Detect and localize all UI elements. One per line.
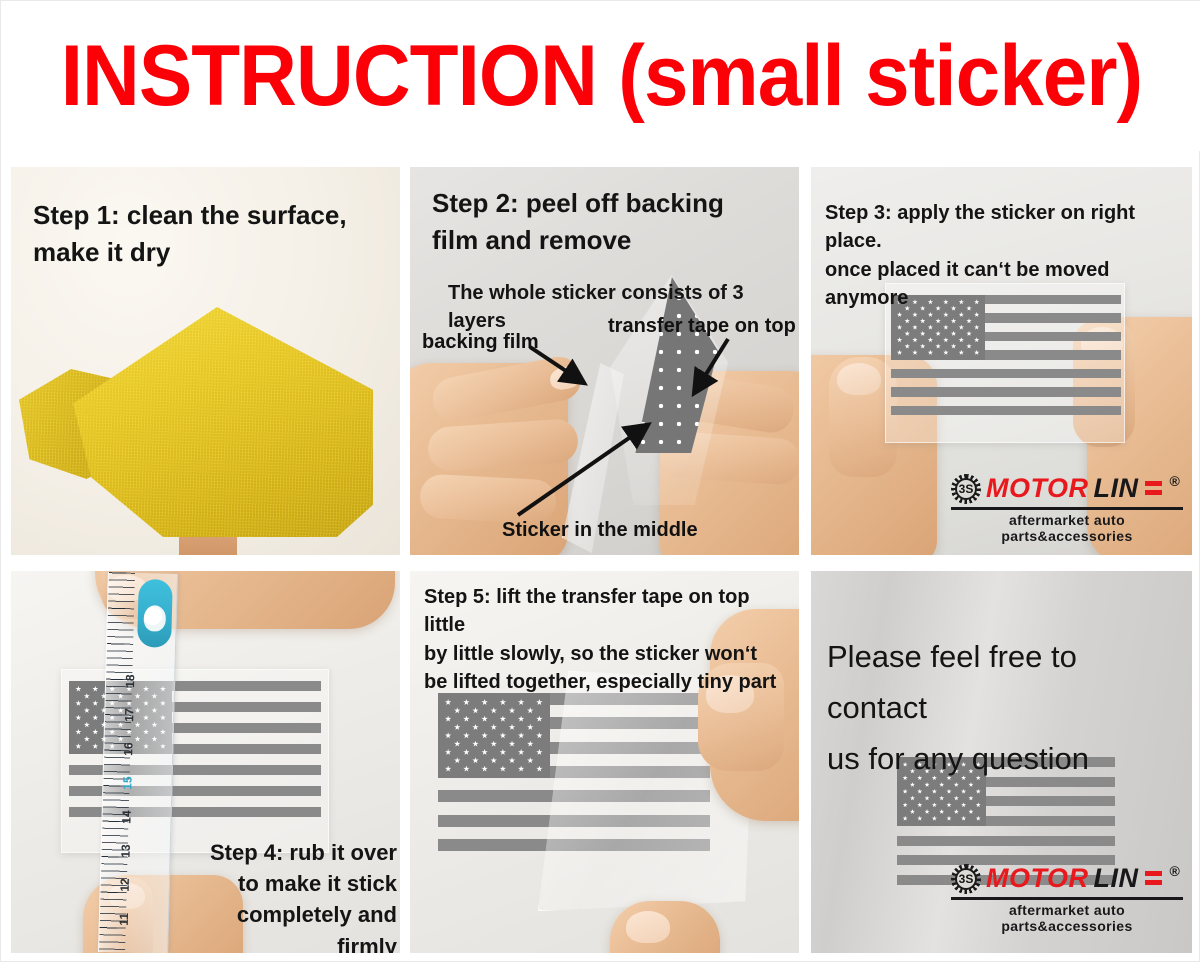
label-sticker-middle: Sticker in the middle — [502, 519, 698, 542]
arrow-backing-film — [410, 167, 799, 555]
panel-step-4: 18 17 16 15 14 13 12 11 Step 4: rub it o… — [11, 571, 400, 953]
label-backing-film: backing film — [422, 331, 539, 354]
left-thumb-nail — [837, 363, 881, 395]
logo-tagline: aftermarket auto parts&accessories — [951, 902, 1183, 934]
panel-contact: Please feel free to contact us for any q… — [811, 571, 1192, 953]
ruler: 18 17 16 15 14 13 12 11 — [98, 572, 178, 953]
ruler-number: 13 — [119, 844, 133, 858]
page-title: INSTRUCTION (small sticker) — [60, 27, 1142, 126]
brand-logo: 3S MOTOR LIN ® aftermarket auto parts&ac… — [951, 473, 1183, 544]
panel-step-2: Step 2: peel off backing film and remove… — [410, 167, 799, 555]
panel-step-3: Step 3: apply the sticker on right place… — [811, 167, 1192, 555]
step-3-caption: Step 3: apply the sticker on right place… — [825, 199, 1187, 313]
ruler-cartoon-sticker — [137, 579, 173, 648]
registered-icon: ® — [1170, 863, 1180, 879]
registered-icon: ® — [1170, 473, 1180, 489]
step-1-caption: Step 1: clean the surface, make it dry — [33, 197, 388, 271]
panel-step-5: Step 5: lift the transfer tape on top li… — [410, 571, 799, 953]
gear-icon: 3S — [951, 474, 981, 504]
logo-tagline: aftermarket auto parts&accessories — [951, 512, 1183, 544]
contact-caption: Please feel free to contact us for any q… — [827, 631, 1183, 784]
brand-logo: 3S MOTOR LIN ® aftermarket auto parts&ac… — [951, 863, 1183, 934]
gear-label: 3S — [951, 864, 981, 894]
logo-name-dark: LIN — [1094, 473, 1139, 504]
logo-divider — [951, 507, 1183, 510]
ruler-number: 17 — [122, 708, 136, 722]
equals-mark-icon — [1145, 868, 1162, 890]
cloth-main — [73, 307, 373, 537]
ruler-number: 12 — [118, 878, 132, 892]
equals-mark-icon — [1145, 478, 1162, 500]
logo-name-red: MOTOR — [986, 473, 1089, 504]
flag-union — [438, 693, 550, 778]
logo-divider — [951, 897, 1183, 900]
step-5-caption: Step 5: lift the transfer tape on top li… — [424, 583, 796, 697]
logo-name-dark: LIN — [1094, 863, 1139, 894]
microfiber-cloth-image — [11, 287, 400, 555]
instruction-sheet: INSTRUCTION (small sticker) Step 1: clea… — [0, 0, 1200, 962]
ruler-number: 18 — [123, 674, 137, 688]
step-4-caption: Step 4: rub it over to make it stick com… — [175, 837, 397, 953]
logo-name-red: MOTOR — [986, 863, 1089, 894]
label-transfer-tape: transfer tape on top — [608, 315, 796, 338]
panel-step-1: Step 1: clean the surface, make it dry — [11, 167, 400, 555]
ruler-number: 15 — [120, 776, 134, 790]
ruler-number: 16 — [121, 742, 135, 756]
gear-icon: 3S — [951, 864, 981, 894]
bottom-thumb-nail — [626, 911, 670, 943]
ruler-number: 14 — [119, 810, 133, 824]
header: INSTRUCTION (small sticker) — [1, 1, 1200, 151]
ruler-number: 11 — [117, 913, 131, 926]
us-flag-decal — [891, 295, 1121, 415]
gear-label: 3S — [951, 474, 981, 504]
